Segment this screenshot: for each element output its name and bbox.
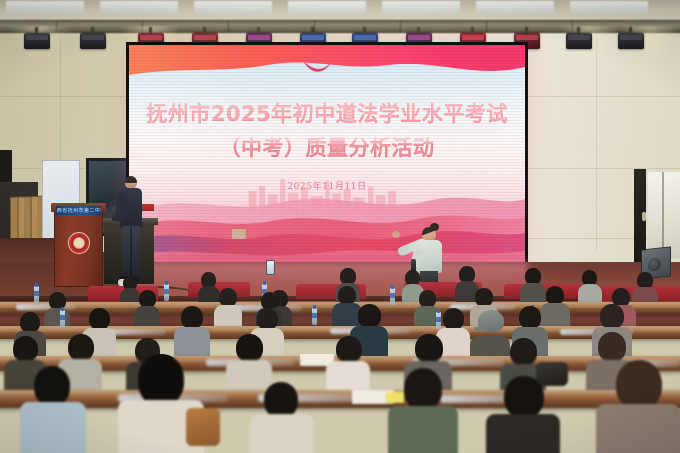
screen-title: 抚州市2025年初中道法学业水平考试 （中考）质量分析活动 bbox=[129, 97, 525, 165]
water-bottle bbox=[164, 284, 169, 301]
screen-date: 2025年11月11日 bbox=[129, 179, 525, 192]
led-screen-content: 抚州市2025年初中道法学业水平考试 （中考）质量分析活动 2025年11月11… bbox=[129, 45, 525, 265]
audience-person bbox=[44, 292, 70, 326]
led-screen: 抚州市2025年初中道法学业水平考试 （中考）质量分析活动 2025年11月11… bbox=[126, 42, 528, 268]
screen-title-line2: （中考）质量分析活动 bbox=[129, 131, 525, 165]
podium-band-text: 江西省抚州市第二中学 bbox=[56, 207, 101, 214]
wall-seam-vertical bbox=[596, 26, 597, 251]
audience-person bbox=[250, 382, 314, 453]
ceiling-panel bbox=[194, 1, 272, 14]
audience-area bbox=[0, 250, 680, 453]
water-bottle bbox=[390, 288, 395, 305]
water-bottle bbox=[60, 310, 65, 327]
ceiling-panel bbox=[288, 1, 366, 14]
audience-person bbox=[578, 270, 602, 304]
water-bottle bbox=[312, 308, 317, 325]
audience-person bbox=[326, 336, 370, 396]
water-bottle bbox=[34, 286, 39, 303]
podium-name-band: 江西省抚州市第二中学 bbox=[56, 206, 101, 215]
audience-person bbox=[486, 376, 560, 453]
stage-light bbox=[566, 33, 592, 49]
ceiling-panel bbox=[6, 1, 84, 14]
ceiling-panel bbox=[100, 1, 178, 14]
side-window bbox=[648, 172, 680, 258]
stage-light bbox=[24, 33, 50, 49]
screen-title-line1: 抚州市2025年初中道法学业水平考试 bbox=[146, 102, 507, 126]
top-wave-graphic bbox=[129, 45, 525, 87]
audience-person bbox=[134, 290, 160, 326]
smartphone bbox=[266, 260, 275, 275]
shoulder-bag bbox=[186, 408, 220, 446]
audience-person bbox=[214, 288, 242, 326]
baseball-cap bbox=[478, 310, 504, 332]
ceiling-panel bbox=[382, 1, 460, 14]
ceiling-panel bbox=[476, 1, 554, 14]
auditorium-photo: 抚州市2025年初中道法学业水平考试 （中考）质量分析活动 2025年11月11… bbox=[0, 0, 680, 453]
ceiling-panel bbox=[570, 1, 648, 14]
audience-person bbox=[388, 368, 458, 453]
audience-person bbox=[174, 306, 210, 356]
stage-light bbox=[80, 33, 106, 49]
stage-light bbox=[618, 33, 644, 49]
audience-person bbox=[596, 360, 680, 453]
audience-person bbox=[20, 366, 86, 453]
pointing-hand bbox=[392, 231, 400, 238]
door-handle bbox=[642, 212, 646, 221]
